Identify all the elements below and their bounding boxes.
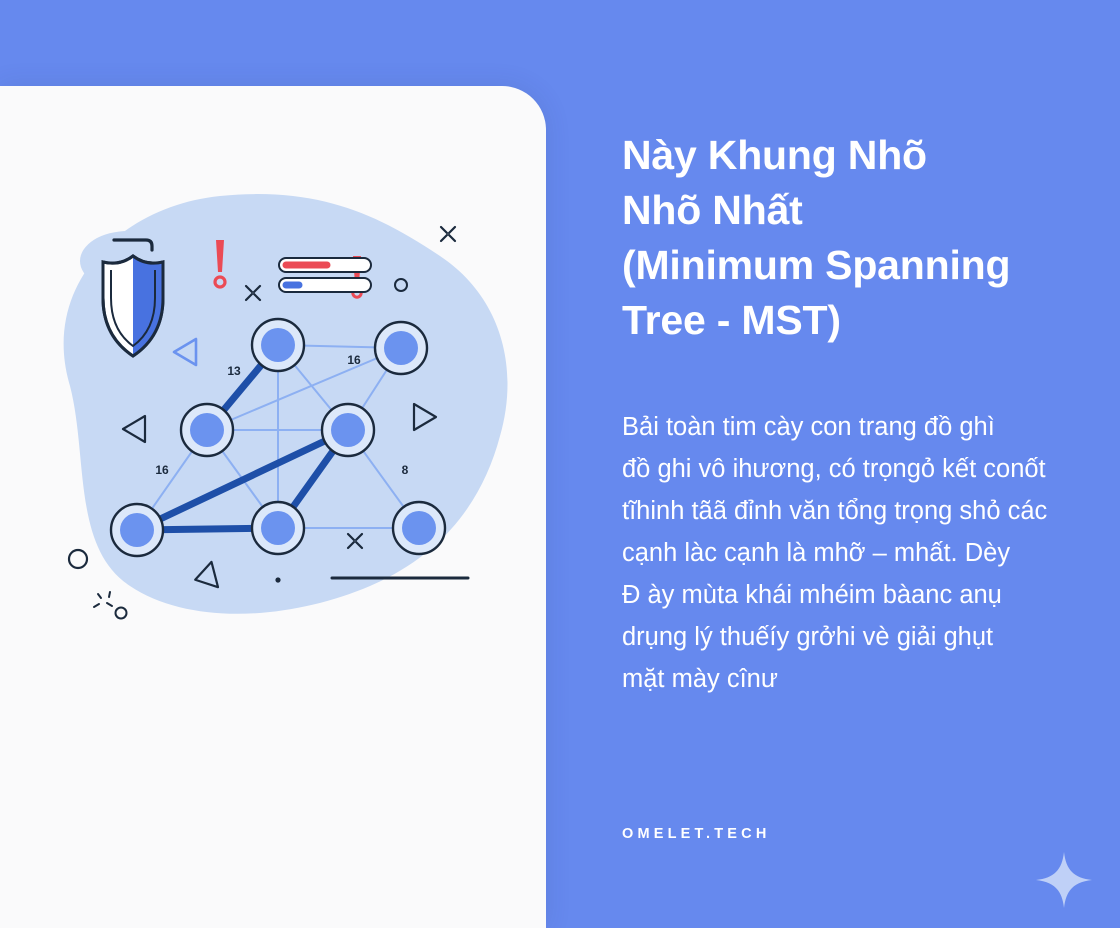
circle-outline-tiny	[116, 608, 127, 619]
sparkle-star	[1032, 848, 1096, 912]
graph-node	[393, 502, 445, 554]
graph-node	[322, 404, 374, 456]
body-line-1: Bải toàn tim cày con trang đồ ghì	[622, 406, 1108, 448]
body-line-2: đồ ghi vô ihương, có trọngỏ kết conốt	[622, 448, 1108, 490]
right-panel: Này Khung Nhõ Nhõ Nhất (Minimum Spanning…	[620, 0, 1120, 928]
graph-node	[181, 404, 233, 456]
dot-marker	[275, 577, 280, 582]
illustration-container: 13 16 16 8	[0, 86, 546, 646]
progress-bar-blue	[279, 278, 371, 292]
title-line-1: Này Khung Nhõ	[622, 128, 1092, 183]
edge-label: 13	[227, 364, 241, 378]
title-line-2: Nhõ Nhất	[622, 183, 1092, 238]
sparkle-dots-bottom-left	[94, 592, 112, 607]
body-line-5: Đ ày mùta khái mhéim bàanc anụ	[622, 574, 1108, 616]
edge-label: 16	[155, 463, 169, 477]
edge-label: 8	[402, 463, 409, 477]
body-line-3: tĩhinh tãã đỉnh văn tổng trọng shỏ các	[622, 490, 1108, 532]
progress-bar-red	[279, 258, 371, 272]
sparkle-cross-top-right	[441, 227, 455, 241]
body-line-7: mặt mày cînư	[622, 658, 1108, 700]
body-paragraph: Bải toàn tim cày con trang đồ ghì đồ ghi…	[622, 406, 1108, 700]
page-title: Này Khung Nhõ Nhõ Nhất (Minimum Spanning…	[622, 128, 1092, 348]
title-line-4: Tree - MST)	[622, 293, 1092, 348]
brand-wordmark: OMELET.TECH	[622, 826, 771, 842]
title-line-3: (Minimum Spanning	[622, 238, 1092, 293]
graph-node	[375, 322, 427, 374]
body-line-4: cạnh làc cạnh là mhỡ – mhất. Dèy	[622, 532, 1108, 574]
circle-outline-medium	[69, 550, 87, 568]
body-line-6: drụng lý thuếíy grởhi vè giải ghụt	[622, 616, 1108, 658]
graph-node	[252, 319, 304, 371]
edge-label: 16	[347, 353, 361, 367]
poster-root: 13 16 16 8	[0, 0, 1120, 928]
graph-node	[111, 504, 163, 556]
graph-node	[252, 502, 304, 554]
